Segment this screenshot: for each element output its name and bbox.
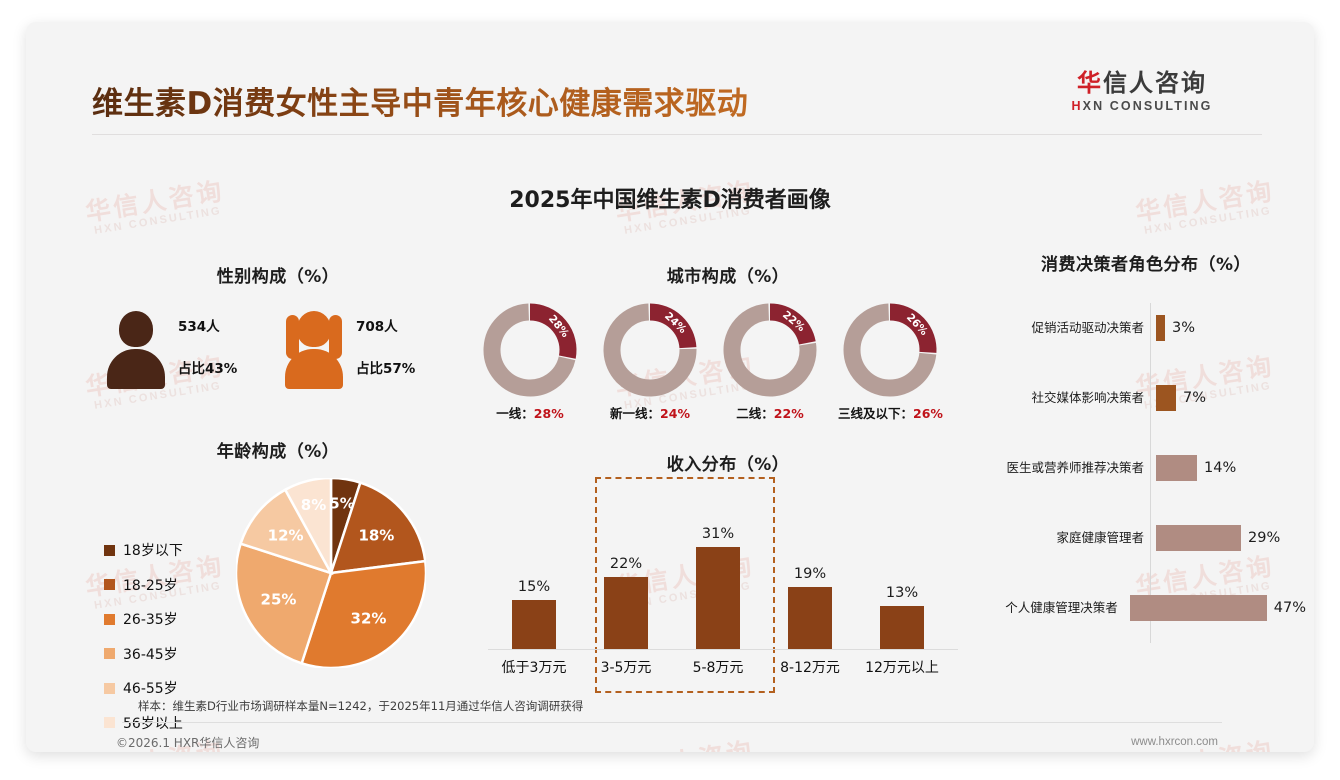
income-bar <box>604 577 648 649</box>
gender-title: 性别构成（%） <box>88 262 468 287</box>
legend-label: 46-55岁 <box>123 678 178 698</box>
donut-caption-value: 24% <box>660 406 690 421</box>
city-donuts: 28%一线：28%24%新一线：24%22%二线：22%26%三线及以下：26% <box>478 303 978 431</box>
role-row: 个人健康管理决策者47% <box>986 585 1306 631</box>
donut-caption: 一线：28% <box>478 403 582 422</box>
legend-swatch <box>104 717 115 728</box>
legend-swatch <box>104 545 115 556</box>
donut-caption-value: 26% <box>913 406 943 421</box>
income-category-label: 低于3万元 <box>487 657 581 677</box>
role-value: 3% <box>1172 320 1195 336</box>
city-donut: 22%二线：22% <box>718 303 822 422</box>
gender-item: 708人占比57% <box>284 309 415 389</box>
income-category-label: 3-5万元 <box>579 657 673 677</box>
income-bar-value: 22% <box>584 556 668 572</box>
website-link[interactable]: www.hxrcon.com <box>1131 736 1218 748</box>
male-avatar-icon <box>106 309 166 389</box>
role-label: 促销活动驱动决策者 <box>986 320 1150 337</box>
role-row: 社交媒体影响决策者7% <box>986 375 1306 421</box>
role-label: 家庭健康管理者 <box>986 530 1150 547</box>
watermark: 华信人咨询HXN CONSULTING <box>594 735 778 752</box>
page-title: 维生素D消费女性主导中青年核心健康需求驱动 <box>92 78 748 123</box>
role-label: 个人健康管理决策者 <box>986 600 1124 617</box>
income-bar <box>512 600 556 649</box>
legend-label: 18岁以下 <box>123 540 183 560</box>
company-logo: 华信人咨询 HXN CONSULTING <box>1042 70 1242 113</box>
copyright-text: ©2026.1 HXR华信人咨询 <box>116 734 259 751</box>
city-panel: 城市构成（%） 28%一线：28%24%新一线：24%22%二线：22%26%三… <box>478 262 978 431</box>
income-bar-column: 22% <box>584 556 668 649</box>
role-bar <box>1156 525 1241 551</box>
income-bar-column: 15% <box>492 579 576 649</box>
role-bar <box>1156 315 1165 341</box>
header-divider <box>92 134 1262 135</box>
pie-slice-label: 8% <box>301 496 326 514</box>
logo-cn-text: 华信人咨询 <box>1042 70 1242 96</box>
role-bar <box>1156 385 1176 411</box>
footer-divider <box>122 722 1222 723</box>
gender-share: 占比57% <box>356 357 415 377</box>
roles-title: 消费决策者角色分布（%） <box>986 250 1306 275</box>
age-pie-chart: 5%18%32%25%12%8% <box>236 478 426 668</box>
infographic-page: 华信人咨询HXN CONSULTING华信人咨询HXN CONSULTING华信… <box>0 0 1340 780</box>
income-title: 收入分布（%） <box>478 450 978 475</box>
legend-label: 18-25岁 <box>123 575 178 595</box>
gender-count: 708人 <box>356 315 415 335</box>
legend-swatch <box>104 579 115 590</box>
gender-share: 占比43% <box>178 357 237 377</box>
legend-item: 36-45岁 <box>104 644 183 664</box>
income-bar-value: 15% <box>492 579 576 595</box>
gender-rows: 534人占比43%708人占比57% <box>88 309 468 397</box>
city-donut-svg: 28% <box>478 303 582 399</box>
role-value: 29% <box>1248 530 1280 546</box>
age-pie-svg: 5%18%32%25%12%8% <box>236 478 426 668</box>
donut-caption: 二线：22% <box>718 403 822 422</box>
legend-swatch <box>104 683 115 694</box>
chart-main-title: 2025年中国维生素D消费者画像 <box>26 182 1314 214</box>
header: 维生素D消费女性主导中青年核心健康需求驱动 华信人咨询 HXN CONSULTI… <box>26 22 1314 140</box>
legend-swatch <box>104 648 115 659</box>
role-value: 47% <box>1274 600 1306 616</box>
income-bar-value: 31% <box>676 526 760 542</box>
legend-item: 46-55岁 <box>104 678 183 698</box>
donut-caption-value: 22% <box>774 406 804 421</box>
role-bar <box>1130 595 1267 621</box>
logo-en-text: HXN CONSULTING <box>1042 99 1242 113</box>
gender-count: 534人 <box>178 315 237 335</box>
legend-item: 18-25岁 <box>104 575 183 595</box>
city-donut-svg: 24% <box>598 303 702 399</box>
logo-en-rest: XN CONSULTING <box>1083 99 1213 113</box>
logo-en-accent: H <box>1072 99 1083 113</box>
income-bar-column: 19% <box>768 566 852 649</box>
role-row: 家庭健康管理者29% <box>986 515 1306 561</box>
roles-bar-chart: 促销活动驱动决策者3%社交媒体影响决策者7%医生或营养师推荐决策者14%家庭健康… <box>986 299 1306 659</box>
income-category-label: 12万元以上 <box>855 657 949 677</box>
income-category-label: 5-8万元 <box>671 657 765 677</box>
income-bar-column: 31% <box>676 526 760 649</box>
female-avatar-icon <box>284 309 344 389</box>
role-value: 7% <box>1183 390 1206 406</box>
legend-label: 36-45岁 <box>123 644 178 664</box>
legend-item: 18岁以下 <box>104 540 183 560</box>
roles-panel: 消费决策者角色分布（%） 促销活动驱动决策者3%社交媒体影响决策者7%医生或营养… <box>986 250 1306 659</box>
legend-swatch <box>104 614 115 625</box>
gender-item: 534人占比43% <box>106 309 237 389</box>
source-note-text: 样本：维生素D行业市场调研样本量N=1242，于2025年11月通过华信人咨询调… <box>138 698 583 714</box>
income-baseline <box>488 649 958 650</box>
role-bar <box>1156 455 1197 481</box>
donut-caption-value: 28% <box>534 406 564 421</box>
legend-item: 26-35岁 <box>104 609 183 629</box>
income-plot: 15%低于3万元22%3-5万元31%5-8万元19%8-12万元13%12万元… <box>488 489 968 649</box>
income-category-label: 8-12万元 <box>763 657 857 677</box>
city-donut-svg: 26% <box>838 303 942 399</box>
age-legend: 18岁以下18-25岁26-35岁36-45岁46-55岁56岁以上 <box>104 540 183 747</box>
donut-caption: 新一线：24% <box>598 403 702 422</box>
legend-label: 26-35岁 <box>123 609 178 629</box>
gender-panel: 性别构成（%） 534人占比43%708人占比57% <box>88 262 468 397</box>
pie-slice-label: 25% <box>261 591 297 609</box>
income-bar <box>696 547 740 649</box>
city-donut: 26%三线及以下：26% <box>838 303 942 422</box>
city-title: 城市构成（%） <box>478 262 978 287</box>
role-label: 医生或营养师推荐决策者 <box>986 460 1150 477</box>
role-value: 14% <box>1204 460 1236 476</box>
role-row: 促销活动驱动决策者3% <box>986 305 1306 351</box>
city-donut-svg: 22% <box>718 303 822 399</box>
income-bar <box>880 606 924 649</box>
donut-caption: 三线及以下：26% <box>838 403 942 422</box>
income-bar-chart: 15%低于3万元22%3-5万元31%5-8万元19%8-12万元13%12万元… <box>478 489 978 689</box>
city-donut: 28%一线：28% <box>478 303 582 422</box>
age-panel: 年龄构成（%） 18岁以下18-25岁26-35岁36-45岁46-55岁56岁… <box>88 437 468 668</box>
pie-slice-label: 12% <box>268 527 304 545</box>
pie-slice-label: 32% <box>351 609 387 627</box>
pie-slice-label: 18% <box>358 527 394 545</box>
age-title: 年龄构成（%） <box>88 437 468 462</box>
role-row: 医生或营养师推荐决策者14% <box>986 445 1306 491</box>
logo-cn-accent: 华 <box>1077 69 1103 97</box>
income-bar-value: 19% <box>768 566 852 582</box>
slide-card: 华信人咨询HXN CONSULTING华信人咨询HXN CONSULTING华信… <box>26 22 1314 752</box>
income-bar <box>788 587 832 649</box>
role-label: 社交媒体影响决策者 <box>986 390 1150 407</box>
city-donut: 24%新一线：24% <box>598 303 702 422</box>
income-bar-column: 13% <box>860 585 944 649</box>
income-panel: 收入分布（%） 15%低于3万元22%3-5万元31%5-8万元19%8-12万… <box>478 450 978 689</box>
income-bar-value: 13% <box>860 585 944 601</box>
logo-cn-rest: 信人咨询 <box>1103 69 1207 97</box>
